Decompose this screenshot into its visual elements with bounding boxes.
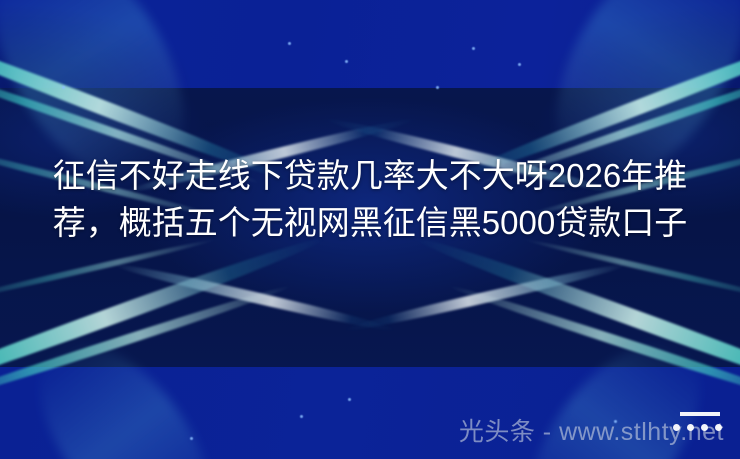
sparkle-dot <box>300 415 303 418</box>
sparkle-dot <box>348 398 351 401</box>
site-logo-icon <box>666 412 722 438</box>
sparkle-dot <box>345 60 348 63</box>
logo-dot <box>701 424 708 431</box>
logo-dot <box>673 424 680 431</box>
logo-dot <box>715 424 722 431</box>
page-title: 征信不好走线下贷款几率大不大呀2026年推荐，概括五个无视网黑征信黑5000贷款… <box>0 152 740 246</box>
article-cover-card: 征信不好走线下贷款几率大不大呀2026年推荐，概括五个无视网黑征信黑5000贷款… <box>0 0 740 459</box>
watermark: 光头条 - www.stlhty.net <box>459 414 724 450</box>
sparkle-dot <box>288 42 291 45</box>
logo-dot <box>687 424 694 431</box>
sparkle-dot <box>518 63 521 66</box>
sparkle-dot <box>472 47 475 50</box>
sparkle-dot <box>190 437 193 440</box>
sparkle-dot <box>436 86 439 89</box>
logo-dots <box>673 424 722 431</box>
logo-bar <box>680 412 720 416</box>
sparkle-dot <box>62 86 65 89</box>
